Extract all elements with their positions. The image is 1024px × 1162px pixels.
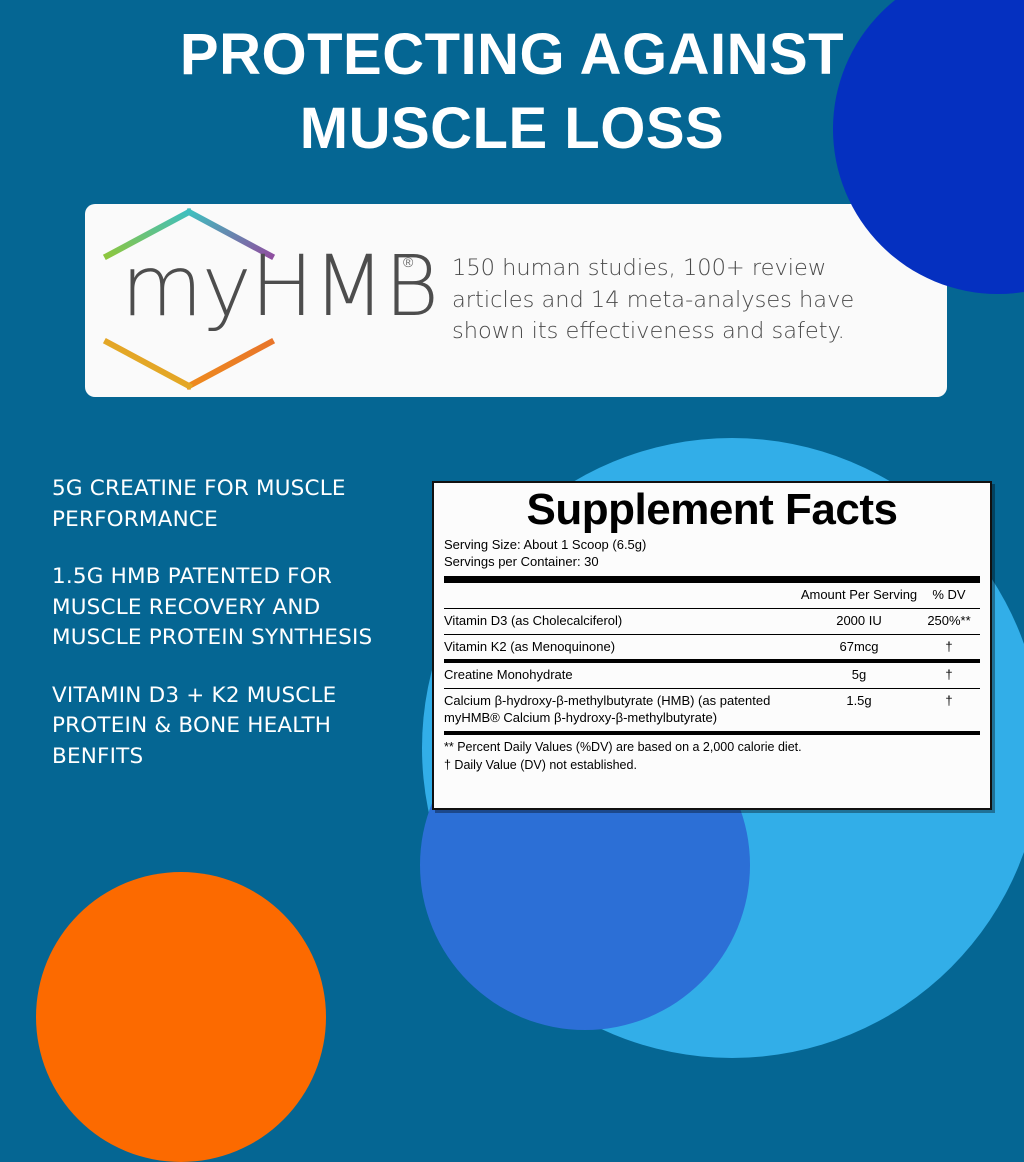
table-row: Vitamin D3 (as Cholecalciferol) 2000 IU …: [444, 609, 980, 634]
decorative-circle-orange: [36, 872, 326, 1162]
registered-trademark-icon: ®: [403, 254, 413, 270]
footnotes: ** Percent Daily Values (%DV) are based …: [444, 735, 980, 775]
table-header-row: Amount Per Serving % DV: [444, 583, 980, 608]
nutrient-dv: †: [918, 639, 980, 656]
table-row: Calcium β-hydroxy-β-methylbutyrate (HMB)…: [444, 689, 980, 731]
servings-per-container: Servings per Container: 30: [444, 553, 980, 571]
supplement-facts-panel: Supplement Facts Serving Size: About 1 S…: [432, 481, 992, 810]
myhmb-wordmark: myHMB: [121, 244, 438, 328]
table-row: Vitamin K2 (as Menoquinone) 67mcg †: [444, 635, 980, 660]
nutrient-name: Vitamin D3 (as Cholecalciferol): [444, 613, 800, 630]
nutrient-name: Creatine Monohydrate: [444, 667, 800, 684]
nutrient-amount: 67mcg: [800, 639, 918, 656]
benefit-item: 1.5G HMB PATENTED FOR MUSCLE RECOVERY AN…: [52, 562, 402, 654]
supplement-facts-title: Supplement Facts: [444, 487, 980, 534]
nutrient-amount: 5g: [800, 667, 918, 684]
column-header-dv: % DV: [918, 587, 980, 604]
benefit-item: 5G CREATINE FOR MUSCLE PERFORMANCE: [52, 474, 402, 535]
nutrient-dv: †: [918, 693, 980, 710]
myhmb-logo: myHMB ®: [97, 208, 452, 393]
nutrient-dv: †: [918, 667, 980, 684]
divider-thick: [444, 576, 980, 583]
benefit-item: VITAMIN D3 + K2 MUSCLE PROTEIN & BONE HE…: [52, 681, 402, 773]
info-card-body-text: 150 human studies, 100+ review articles …: [452, 253, 947, 349]
serving-size: Serving Size: About 1 Scoop (6.5g): [444, 536, 980, 554]
nutrient-amount: 1.5g: [800, 693, 918, 710]
info-card: myHMB ® 150 human studies, 100+ review a…: [85, 204, 947, 397]
footnote-daily-values: ** Percent Daily Values (%DV) are based …: [444, 739, 980, 757]
nutrient-amount: 2000 IU: [800, 613, 918, 630]
footnote-dv-not-established: † Daily Value (DV) not established.: [444, 757, 980, 775]
column-header-amount: Amount Per Serving: [800, 587, 918, 604]
table-row: Creatine Monohydrate 5g †: [444, 663, 980, 688]
benefits-list: 5G CREATINE FOR MUSCLE PERFORMANCE 1.5G …: [52, 474, 402, 799]
nutrient-dv: 250%**: [918, 613, 980, 630]
nutrient-name: Calcium β-hydroxy-β-methylbutyrate (HMB)…: [444, 693, 800, 727]
nutrient-name: Vitamin K2 (as Menoquinone): [444, 639, 800, 656]
